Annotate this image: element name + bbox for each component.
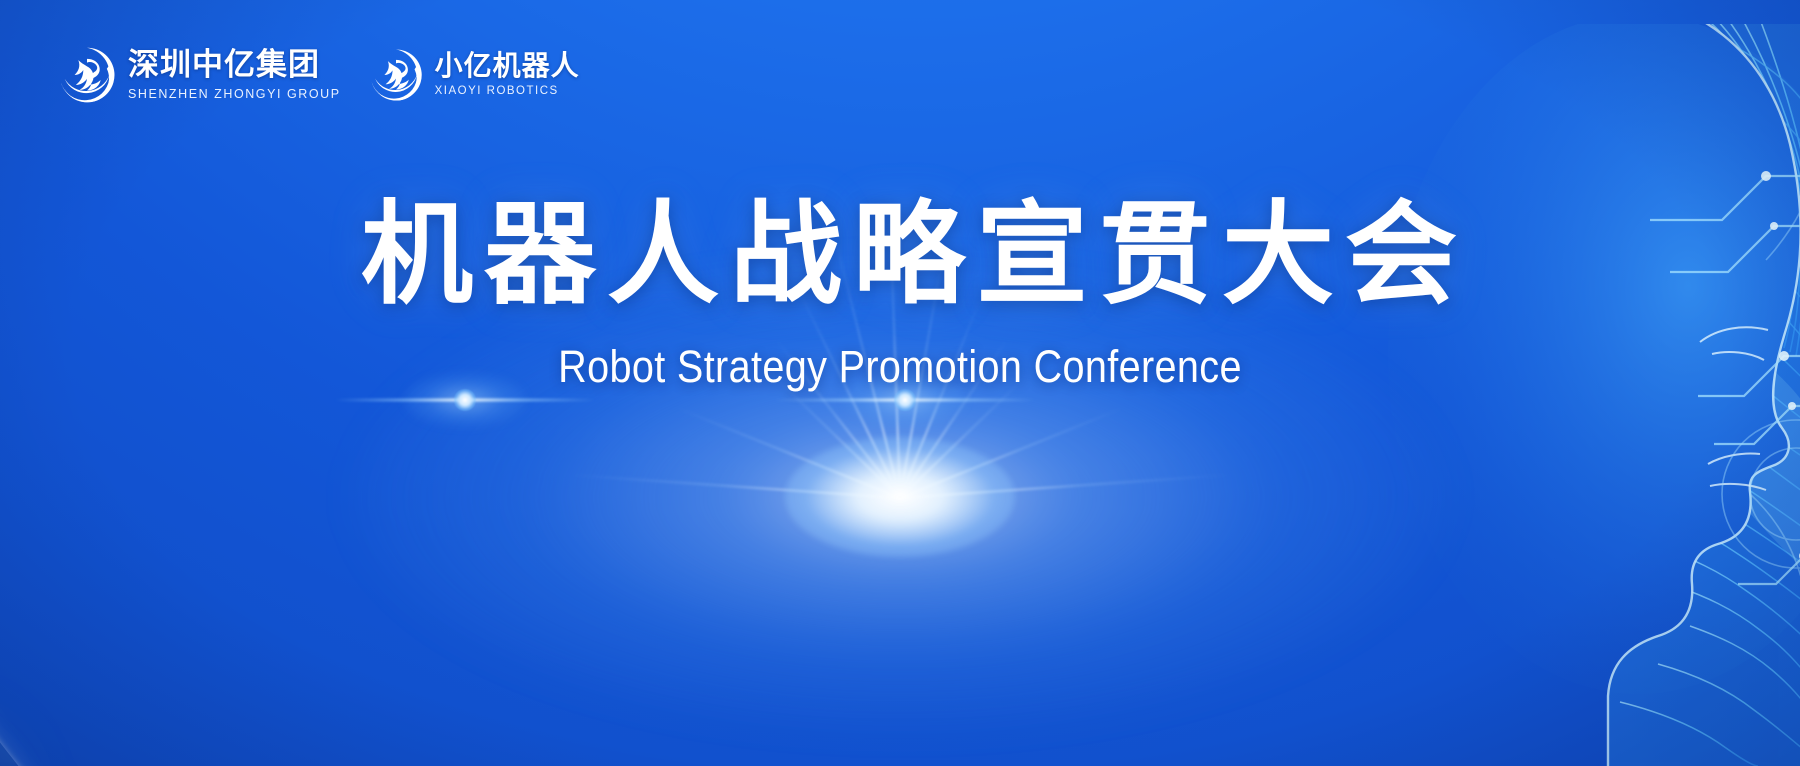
wireframe-ai-face-icon xyxy=(1298,24,1800,766)
subtitle-en: Robot Strategy Promotion Conference xyxy=(108,341,1692,393)
title-block: 机器人战略宣贯大会 Robot Strategy Promotion Confe… xyxy=(0,196,1800,393)
xiaoyi-dragon-logo-icon xyxy=(367,46,425,104)
logo-bar: 深圳中亿集团 SHENZHEN ZHONGYI GROUP 小亿机器人 XIAO… xyxy=(56,44,580,106)
logo-name-en: SHENZHEN ZHONGYI GROUP xyxy=(128,88,341,101)
logo-name-cn: 小亿机器人 xyxy=(435,52,580,80)
logo-xiaoyi-robotics[interactable]: 小亿机器人 XIAOYI ROBOTICS xyxy=(367,46,580,104)
zhongyi-dragon-logo-icon xyxy=(56,44,118,106)
logo-name-en: XIAOYI ROBOTICS xyxy=(435,86,580,98)
conference-banner: 深圳中亿集团 SHENZHEN ZHONGYI GROUP 小亿机器人 XIAO… xyxy=(0,0,1800,766)
logo-shenzhen-zhongyi-group[interactable]: 深圳中亿集团 SHENZHEN ZHONGYI GROUP xyxy=(56,44,341,106)
main-title-cn: 机器人战略宣贯大会 xyxy=(11,196,1800,315)
logo-text-group: 小亿机器人 XIAOYI ROBOTICS xyxy=(435,52,580,98)
logo-name-cn: 深圳中亿集团 xyxy=(128,50,341,81)
logo-text-group: 深圳中亿集团 SHENZHEN ZHONGYI GROUP xyxy=(128,50,341,101)
